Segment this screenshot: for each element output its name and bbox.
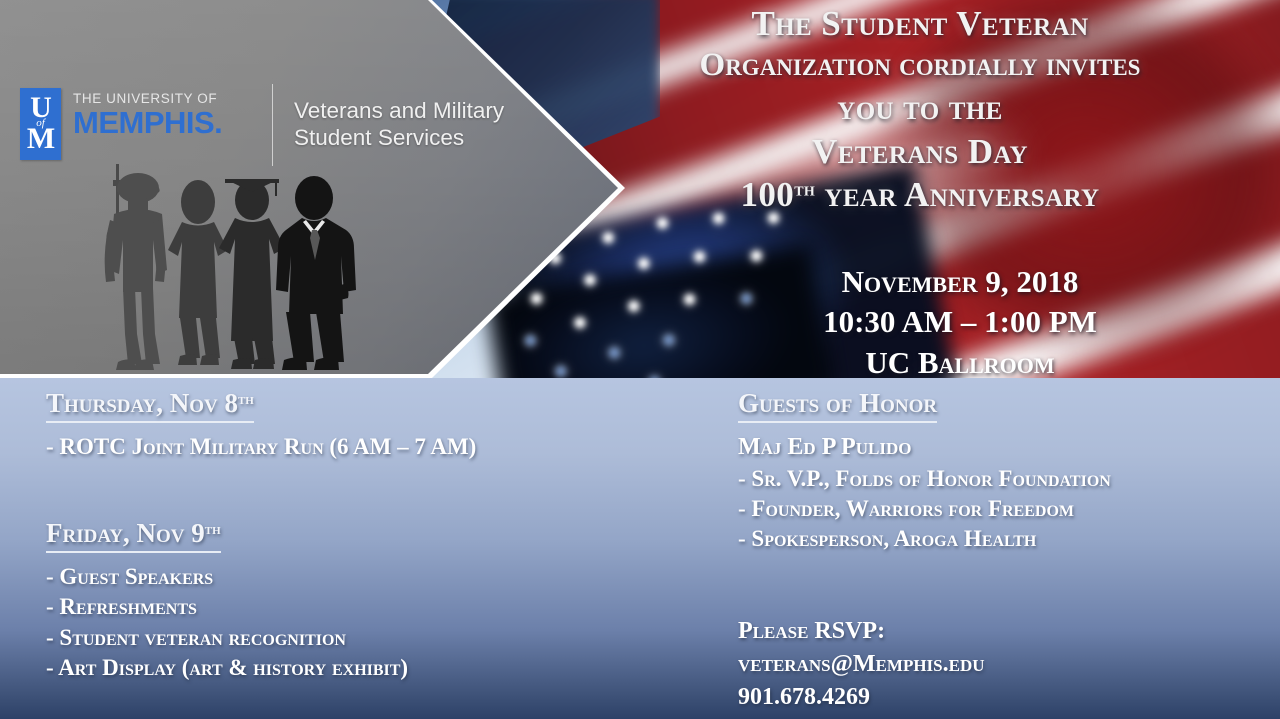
- event-location: UC Ballroom: [640, 343, 1280, 378]
- rsvp-label: Please RSVP:: [738, 615, 1268, 648]
- day1-item: - ROTC Joint Military Run (6 AM – 7 AM): [46, 432, 686, 462]
- guest-title: - Founder, Warriors for Freedom: [738, 494, 1268, 524]
- wordmark-top-line: THE UNIVERSITY OF: [73, 92, 222, 106]
- day1-heading-ordinal: th: [238, 390, 254, 408]
- department-name: Veterans and Military Student Services: [294, 97, 504, 152]
- day1-heading: Thursday, Nov 8th: [46, 388, 254, 423]
- schedule-column: Thursday, Nov 8th - ROTC Joint Military …: [46, 388, 686, 684]
- event-date: November 9, 2018: [640, 262, 1280, 302]
- um-shield-m: M: [27, 126, 54, 152]
- um-shield-icon: U of M: [20, 88, 61, 160]
- headline-block: The Student Veteran Organization cordial…: [560, 2, 1280, 216]
- anniversary-rest: year Anniversary: [815, 175, 1099, 214]
- guests-block: Guests of Honor Maj Ed P Pulido - Sr. V.…: [738, 388, 1268, 555]
- headline-line-5: 100th year Anniversary: [560, 173, 1280, 216]
- headline-line-1: The Student Veteran: [560, 2, 1280, 45]
- day1-block: Thursday, Nov 8th - ROTC Joint Military …: [46, 388, 686, 462]
- department-line-1: Veterans and Military: [294, 97, 504, 124]
- logo-divider-rule: [272, 84, 273, 166]
- department-line-2: Student Services: [294, 124, 504, 151]
- guest-title: - Sr. V.P., Folds of Honor Foundation: [738, 464, 1268, 494]
- veteran-silhouettes-icon: [70, 160, 370, 378]
- guests-column: Guests of Honor Maj Ed P Pulido - Sr. V.…: [738, 388, 1268, 714]
- day2-item: - Guest Speakers: [46, 562, 686, 592]
- university-wordmark: THE UNIVERSITY OF MEMPHIS.: [73, 88, 222, 138]
- day2-item: - Refreshments: [46, 592, 686, 622]
- rsvp-phone[interactable]: 901.678.4269: [738, 681, 1268, 714]
- headline-line-2: Organization cordially invites: [560, 45, 1280, 86]
- details-panel: Thursday, Nov 8th - ROTC Joint Military …: [0, 378, 1280, 719]
- day1-heading-text: Thursday, Nov 8: [46, 388, 238, 418]
- rsvp-block: Please RSVP: veterans@Memphis.edu 901.67…: [738, 615, 1268, 714]
- headline-line-3: you to the: [560, 86, 1280, 129]
- wordmark-bottom-line: MEMPHIS.: [73, 107, 222, 139]
- day2-heading-ordinal: th: [205, 520, 221, 538]
- event-time: 10:30 AM – 1:00 PM: [640, 302, 1280, 342]
- day2-heading: Friday, Nov 9th: [46, 518, 221, 553]
- day2-item: - Student veteran recognition: [46, 623, 686, 653]
- day2-block: Friday, Nov 9th - Guest Speakers - Refre…: [46, 518, 686, 683]
- guest-name: Maj Ed P Pulido: [738, 432, 1268, 464]
- veterans-day-flyer: ✷ ✷ ✷ ✷ ✷ ✷ ✷ ✷ ✷ ✷ ✷ ✷ ✷ ✷ ✷ ✷ ✷ ✷ ✷ ✷ …: [0, 0, 1280, 719]
- day2-heading-text: Friday, Nov 9: [46, 518, 205, 548]
- anniversary-ordinal: th: [794, 179, 815, 201]
- guests-heading: Guests of Honor: [738, 388, 937, 423]
- guest-title: - Spokesperson, Aroga Health: [738, 524, 1268, 554]
- day2-item: - Art Display (art & history exhibit): [46, 653, 686, 683]
- headline-line-4: Veterans Day: [560, 130, 1280, 173]
- university-logo-lockup: U of M THE UNIVERSITY OF MEMPHIS.: [20, 88, 222, 160]
- banner-hero: ✷ ✷ ✷ ✷ ✷ ✷ ✷ ✷ ✷ ✷ ✷ ✷ ✷ ✷ ✷ ✷ ✷ ✷ ✷ ✷ …: [0, 0, 1280, 378]
- event-details-block: November 9, 2018 10:30 AM – 1:00 PM UC B…: [640, 262, 1280, 378]
- anniversary-number: 100: [740, 175, 794, 214]
- rsvp-email[interactable]: veterans@Memphis.edu: [738, 648, 1268, 681]
